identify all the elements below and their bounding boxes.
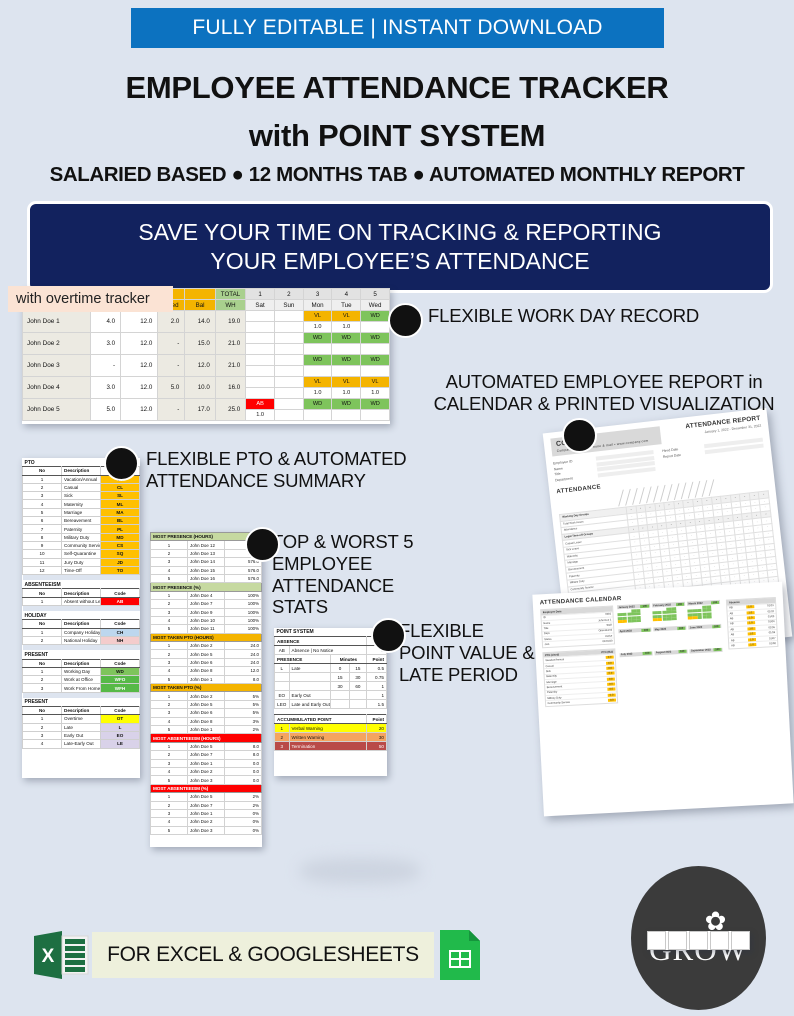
logo-letter: E [710, 931, 729, 950]
stats-row: 1John Doe 52% [151, 793, 262, 801]
table-header-cell: Sat [246, 300, 275, 311]
calendar-month: August 2022100 [655, 650, 689, 673]
legend-row: 6BereavementBL [23, 517, 140, 525]
point-row: EOEarly Out1 [275, 691, 387, 700]
calendar-pto-box: PTO (Used) PTO (Bal) Vacation/Annual0.0C… [542, 648, 618, 707]
stats-row: 4John Doe 10100% [151, 616, 262, 624]
overtime-tracker-tag: with overtime tracker [8, 286, 173, 312]
table-header-cell: Mon [303, 300, 332, 311]
legend-row: 2National HolidayNH [23, 636, 140, 644]
table-header-cell [185, 289, 215, 300]
accumulated-point-row: 1Verbal Warning20 [275, 724, 387, 733]
stats-block-title: MOST TAKEN PTO (HOURS) [151, 633, 262, 641]
table-row: John Doe 43.012.05.010.016.0VLVLVL [23, 377, 390, 388]
table-header-cell: Bal [185, 300, 215, 311]
stats-row: 1John Doe 224.0 [151, 642, 262, 650]
callout-dot-point [371, 618, 406, 653]
stats-row: 5John Doe 30% [151, 826, 262, 834]
stats-row: 1John Doe 25% [151, 692, 262, 700]
stats-row: 4John Doe 812.0 [151, 667, 262, 675]
table-header-cell: 1 [246, 289, 275, 300]
stats-row: 2John Doe 55% [151, 700, 262, 708]
attendance-calendar-document: ATTENDANCE CALENDAR Employee Data ID0001… [532, 582, 793, 817]
stats-row: 1John Doe 4100% [151, 591, 262, 599]
stats-row: 3John Doe 10% [151, 809, 262, 817]
brand-logo: ✿ GROW SHEET [631, 866, 766, 1010]
background-blur-shape [300, 858, 420, 884]
calendar-month: May 2022100 [654, 626, 688, 649]
report-meta-right: Hired DateReport Date [662, 438, 765, 471]
legend-row: 11Jury DutyJD [23, 558, 140, 566]
value-prop-line1: SAVE YOUR TIME ON TRACKING & REPORTING [138, 218, 661, 247]
legend-row: 9Community ServiceCS [23, 541, 140, 549]
report-meta-left: Employee IDNameTitleDepartment [553, 450, 656, 483]
accumulated-point-row: 3Termination50 [275, 742, 387, 751]
logo-letter: S [647, 931, 666, 950]
stats-row: 5John Doe 18.0 [151, 675, 262, 683]
calendar-month: June 2022100 [689, 624, 723, 647]
callout-dot-pto [104, 446, 139, 481]
stats-row: 4John Doe 83% [151, 717, 262, 725]
table-header-cell: Sun [274, 300, 303, 311]
legend-row: 3Work From HomeWFH [23, 684, 140, 692]
calendar-employee-data: Employee Data ID0001 NameJohn Doe 1 Titl… [540, 605, 615, 648]
legend-row: 3Early OutEO [23, 731, 140, 739]
calendar-month: January 2022100 [617, 604, 651, 627]
legend-row: 5MarriageMA [23, 508, 140, 516]
stats-row: 2John Doe 78.0 [151, 751, 262, 759]
calendar-month: April 2022100 [618, 627, 652, 650]
page-title-line1: EMPLOYEE ATTENDANCE TRACKER [0, 72, 794, 105]
table-row: John Doe 55.012.0-17.025.0ABWDWDWD [23, 399, 390, 410]
legend-row: 4MaternityML [23, 500, 140, 508]
compatibility-bar: FOR EXCEL & GOOGLESHEETS [92, 932, 434, 978]
logo-letter: H [668, 931, 687, 950]
logo-letter: E [689, 931, 708, 950]
legend-section-title: HOLIDAY [23, 611, 140, 620]
stats-row: 3John Doe 9100% [151, 608, 262, 616]
legend-row: 1Company HolidayCH [23, 628, 140, 636]
callout-flexible-point-value: FLEXIBLE POINT VALUE & LATE PERIOD [399, 620, 535, 685]
legend-row: 2Work at OfficeWFO [23, 676, 140, 684]
table-header-cell: WH [215, 300, 245, 311]
stats-row: 3John Doe 624.0 [151, 658, 262, 666]
legend-row: 8Military DutyMD [23, 533, 140, 541]
stats-row: 3John Doe 65% [151, 709, 262, 717]
attendance-stats-screenshot: MOST PRESENCE (HOURS)1John Doe 12576.02J… [150, 532, 262, 847]
calendar-month: July 2022100 [620, 651, 654, 674]
legend-section-title: ABSENTEEISM [23, 580, 140, 589]
svg-text:X: X [42, 946, 55, 967]
point-row: 30601 [275, 682, 387, 691]
stats-row: 2John Doe 7100% [151, 600, 262, 608]
calendar-month: February 2022100 [652, 602, 686, 625]
callout-top-worst-5-stats: TOP & WORST 5 EMPLOYEE ATTENDANCE STATS [272, 531, 413, 618]
table-row: John Doe 3-12.0-12.021.0WDWDWD [23, 355, 390, 366]
table-header-cell: 4 [332, 289, 361, 300]
legend-row: 1Absent without LeaveAB [23, 597, 140, 605]
callout-flexible-work-day-record: FLEXIBLE WORK DAY RECORD [428, 305, 699, 327]
stats-row: 3John Doe 10.0 [151, 759, 262, 767]
table-header-cell: 3 [303, 289, 332, 300]
calendar-absence-box: Absence AB1.001/01AB1.001/02AB1.001/03AB… [726, 597, 778, 649]
stats-block-title: MOST ABSENTEEISM (%) [151, 784, 262, 792]
stats-block-title: MOST TAKEN PTO (%) [151, 684, 262, 692]
point-row: LEOLate and Early Out1.5 [275, 700, 387, 709]
table-header-cell: Wed [361, 300, 390, 311]
legend-row: 10Self-QuarantineSQ [23, 550, 140, 558]
point-row: 15300.75 [275, 673, 387, 682]
stats-row: 2John Doe 72% [151, 801, 262, 809]
stats-block-title: MOST ABSENTEEISM (HOURS) [151, 734, 262, 742]
table-header-cell: Tue [332, 300, 361, 311]
calendar-month: March 2022100 [687, 600, 721, 623]
legend-row: 12Time-OffTO [23, 566, 140, 574]
legend-section-title: PRESENT [23, 698, 140, 707]
stats-row: 4John Doe 15576.0 [151, 566, 262, 574]
overtime-tracker-label: with overtime tracker [16, 291, 150, 307]
page-title-line2: with POINT SYSTEM [0, 118, 794, 154]
stats-block-title: MOST PRESENCE (%) [151, 583, 262, 591]
table-header-cell: 2 [274, 289, 303, 300]
accumulated-point-row: 2Written Warning30 [275, 733, 387, 742]
callout-dot-report [562, 418, 597, 453]
legend-row: 1OvertimeOT [23, 715, 140, 723]
callout-flexible-pto-summary: FLEXIBLE PTO & AUTOMATED ATTENDANCE SUMM… [146, 448, 406, 492]
legend-section-title: PRESENT [23, 650, 140, 659]
table-row: John Doe 23.012.0-15.021.0WDWDWD [23, 333, 390, 344]
google-sheets-icon [438, 928, 482, 982]
page-subtitle: SALARIED BASED ● 12 MONTHS TAB ● AUTOMAT… [0, 163, 794, 187]
stats-row: 4John Doe 20.0 [151, 767, 262, 775]
calendar-month-grid: January 2022100February 2022100March 202… [617, 600, 726, 675]
stats-row: 3John Doe 14576.0 [151, 558, 262, 566]
poster-canvas: FULLY EDITABLE | INSTANT DOWNLOAD EMPLOY… [0, 0, 794, 1016]
logo-letter: T [731, 931, 750, 950]
stats-row: 5John Doe 11100% [151, 625, 262, 633]
table-row: John Doe 14.012.02.014.019.0VLVLWD [23, 311, 390, 322]
stats-row: 5John Doe 30.0 [151, 776, 262, 784]
stats-row: 5John Doe 12% [151, 725, 262, 733]
table-header-cell: 5 [361, 289, 390, 300]
stats-row: 1John Doe 58.0 [151, 742, 262, 750]
pto-legend-screenshot: PTONoDescriptionCode1Vacation/AnnualVL2C… [22, 458, 140, 778]
excel-icon: X [32, 928, 90, 982]
legend-row: 1Working DayWD [23, 667, 140, 675]
calendar-month: September 2022100 [690, 648, 724, 671]
value-prop-banner: SAVE YOUR TIME ON TRACKING & REPORTING Y… [27, 201, 773, 293]
ribbon-text: FULLY EDITABLE | INSTANT DOWNLOAD [192, 16, 602, 40]
stats-row: 4John Doe 20% [151, 818, 262, 826]
stats-row: 2John Doe 13576.0 [151, 549, 262, 557]
callout-automated-employee-report: AUTOMATED EMPLOYEE REPORT in CALENDAR & … [424, 371, 784, 415]
ribbon-banner: FULLY EDITABLE | INSTANT DOWNLOAD [131, 8, 664, 48]
legend-row: 2CasualCL [23, 483, 140, 491]
legend-row: 3SickSL [23, 492, 140, 500]
point-row: LLate0150.5 [275, 664, 387, 673]
stats-row: 2John Doe 524.0 [151, 650, 262, 658]
callout-dot-stats [245, 527, 280, 562]
legend-row: 4Late-Early OutLE [23, 740, 140, 748]
stats-row: 5John Doe 16576.0 [151, 574, 262, 582]
compatibility-label: FOR EXCEL & GOOGLESHEETS [107, 943, 419, 967]
legend-row: 2LateL [23, 723, 140, 731]
table-header-cell: TOTAL [215, 289, 245, 300]
brand-name-sheet: SHEET [647, 931, 750, 950]
point-system-screenshot: POINT SYSTEMABSENCEPointABAbsence | No N… [274, 628, 387, 776]
legend-row: 7PaternityPL [23, 525, 140, 533]
value-prop-line2: YOUR EMPLOYEE’S ATTENDANCE [210, 247, 589, 276]
callout-dot-work-day [388, 303, 423, 338]
